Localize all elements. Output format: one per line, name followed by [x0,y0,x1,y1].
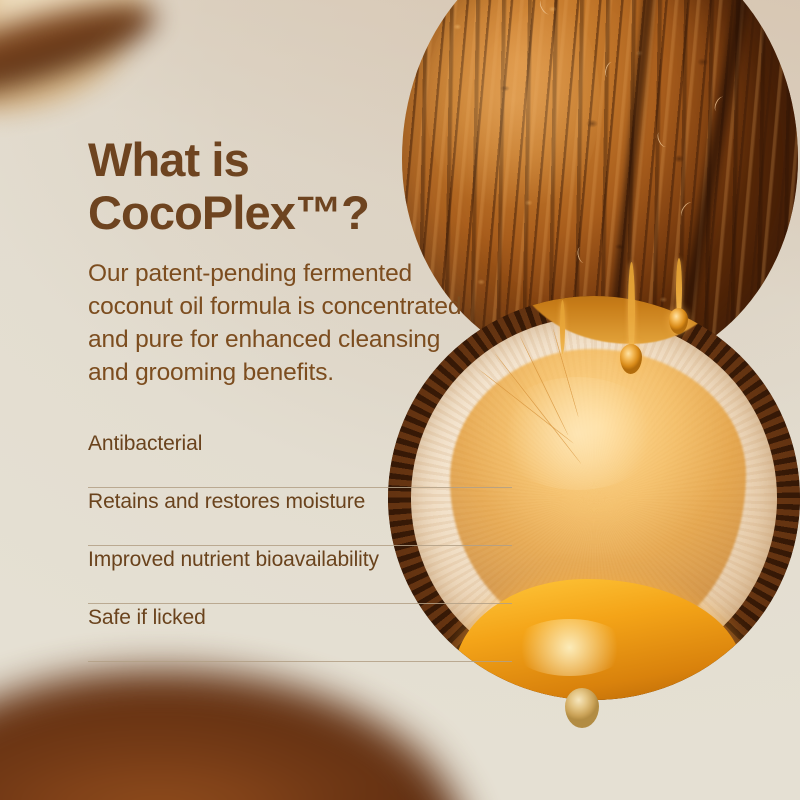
benefit-label: Safe if licked [88,606,206,630]
product-description: Our patent-pending fermented coconut oil… [88,258,514,390]
list-item: Retains and restores moisture [88,488,512,546]
oil-drip-image [560,300,565,354]
falling-oil-droplet-image [565,688,599,728]
benefit-label: Retains and restores moisture [88,490,365,514]
coconut-product-poster: What is CocoPlex™? Our patent-pending fe… [0,0,800,800]
list-item: Improved nutrient bioavailability [88,546,512,604]
benefit-label: Antibacterial [88,432,202,456]
list-item: Safe if licked [88,604,512,662]
page-title: What is CocoPlex™? [88,133,369,239]
poster-content: What is CocoPlex™? Our patent-pending fe… [88,0,558,800]
list-item: Antibacterial [88,430,512,488]
benefit-divider [88,661,512,662]
benefit-label: Improved nutrient bioavailability [88,548,379,572]
benefits-list: Antibacterial Retains and restores moist… [88,430,512,662]
